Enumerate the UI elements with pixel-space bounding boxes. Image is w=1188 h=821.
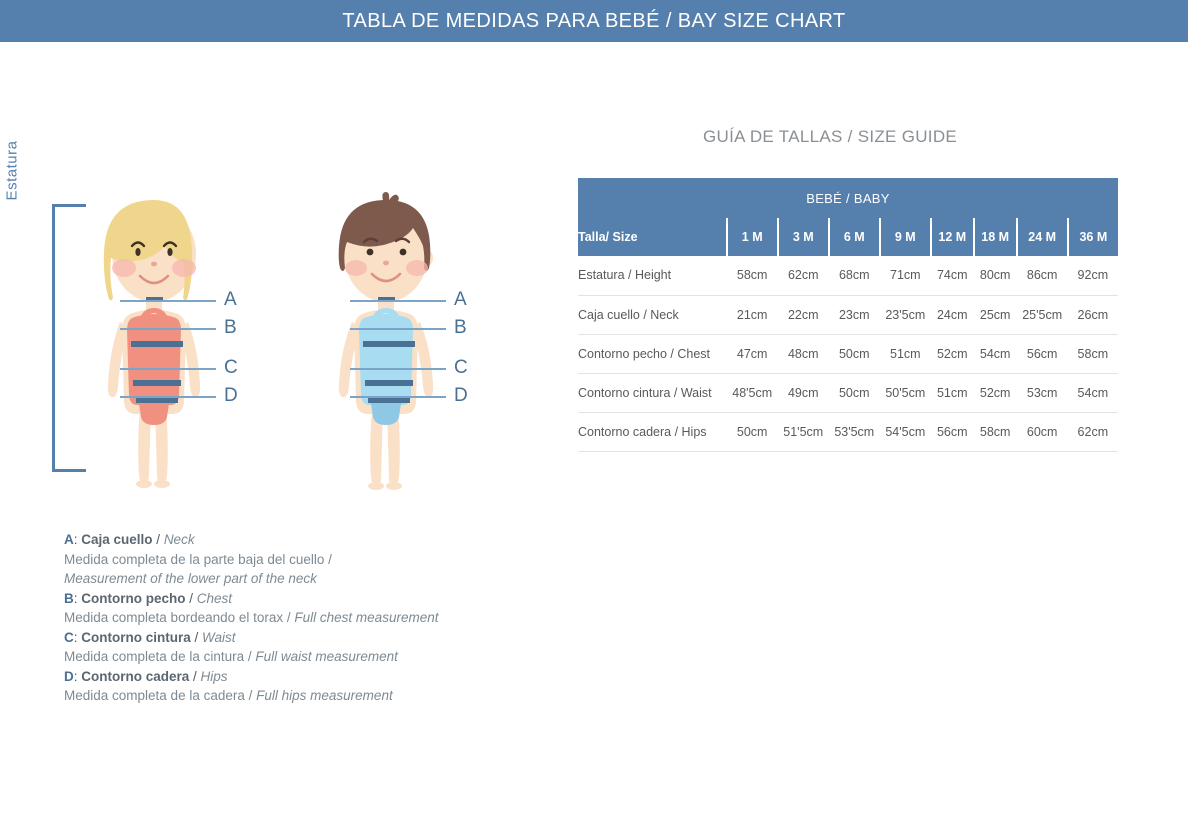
- cell-neck-3m: 22cm: [778, 295, 829, 334]
- legend-desc-en-a: Measurement of the lower part of the nec…: [64, 571, 317, 586]
- height-label: Estatura: [4, 111, 21, 231]
- boy-leader-c: [350, 368, 446, 370]
- boy-letter-b: B: [454, 318, 467, 337]
- girl-leader-a: [120, 300, 216, 302]
- cell-hips-1m: 50cm: [727, 412, 778, 451]
- cell-height-6m: 68cm: [829, 256, 880, 295]
- legend-desc-d: Medida completa de la cadera / Full hips…: [64, 686, 444, 706]
- row-label-neck: Caja cuello / Neck: [578, 295, 727, 334]
- cell-neck-18m: 25cm: [974, 295, 1017, 334]
- cell-hips-9m: 54'5cm: [880, 412, 931, 451]
- legend-letter-d: D: [64, 669, 74, 684]
- legend-desc-en-b: Full chest measurement: [294, 610, 438, 625]
- legend-sep-d: /: [189, 669, 200, 684]
- boy-letter-a: A: [454, 290, 467, 309]
- height-bracket-line: [52, 204, 55, 472]
- cell-chest-36m: 58cm: [1068, 334, 1118, 373]
- size-guide-title: GUÍA DE TALLAS / SIZE GUIDE: [703, 127, 957, 147]
- size-table-group-row: BEBÉ / BABY: [578, 178, 1118, 218]
- size-col-9m[interactable]: 9 M: [880, 218, 931, 256]
- size-table-head: BEBÉ / BABY Talla/ Size 1 M 3 M 6 M 9 M …: [578, 178, 1118, 256]
- cell-waist-18m: 52cm: [974, 373, 1017, 412]
- cell-neck-9m: 23'5cm: [880, 295, 931, 334]
- legend-desc-es-b: Medida completa bordeando el torax /: [64, 610, 291, 625]
- legend-letter-a: A: [64, 532, 74, 547]
- legend-head-d: D: Contorno cadera / Hips: [64, 667, 444, 687]
- legend-term-en-b: Chest: [197, 591, 232, 606]
- girl-leader-b: [120, 328, 216, 330]
- legend-head-b: B: Contorno pecho / Chest: [64, 589, 444, 609]
- cell-height-1m: 58cm: [727, 256, 778, 295]
- girl-callouts: A B C D: [120, 192, 260, 492]
- cell-height-3m: 62cm: [778, 256, 829, 295]
- cell-waist-12m: 51cm: [931, 373, 974, 412]
- legend-item-c: C: Contorno cintura / Waist Medida compl…: [64, 628, 444, 667]
- size-table-body: Estatura / Height 58cm 62cm 68cm 71cm 74…: [578, 256, 1118, 451]
- cell-waist-1m: 48'5cm: [727, 373, 778, 412]
- legend-sep-b: /: [186, 591, 197, 606]
- cell-hips-24m: 60cm: [1017, 412, 1068, 451]
- size-col-36m[interactable]: 36 M: [1068, 218, 1118, 256]
- cell-chest-24m: 56cm: [1017, 334, 1068, 373]
- size-col-18m[interactable]: 18 M: [974, 218, 1017, 256]
- cell-chest-9m: 51cm: [880, 334, 931, 373]
- legend-term-en-d: Hips: [201, 669, 228, 684]
- cell-waist-24m: 53cm: [1017, 373, 1068, 412]
- row-label-hips: Contorno cadera / Hips: [578, 412, 727, 451]
- cell-hips-36m: 62cm: [1068, 412, 1118, 451]
- row-label-waist: Contorno cintura / Waist: [578, 373, 727, 412]
- legend-letter-b: B: [64, 591, 74, 606]
- legend-term-c: Contorno cintura: [81, 630, 191, 645]
- legend-term-en-a: Neck: [164, 532, 195, 547]
- page-title: TABLA DE MEDIDAS PARA BEBÉ / BAY SIZE CH…: [342, 10, 845, 33]
- table-row: Contorno pecho / Chest 47cm 48cm 50cm 51…: [578, 334, 1118, 373]
- legend-desc-en-d: Full hips measurement: [256, 688, 393, 703]
- cell-hips-6m: 53'5cm: [829, 412, 880, 451]
- cell-hips-12m: 56cm: [931, 412, 974, 451]
- girl-letter-a: A: [224, 290, 237, 309]
- boy-letter-d: D: [454, 386, 468, 405]
- legend-term-d: Contorno cadera: [81, 669, 189, 684]
- legend-item-b: B: Contorno pecho / Chest Medida complet…: [64, 589, 444, 628]
- size-table-group-header: BEBÉ / BABY: [578, 178, 1118, 218]
- legend-item-d: D: Contorno cadera / Hips Medida complet…: [64, 667, 444, 706]
- boy-leader-d: [350, 396, 446, 398]
- row-label-height: Estatura / Height: [578, 256, 727, 295]
- legend-term-a: Caja cuello: [81, 532, 152, 547]
- girl-leader-c: [120, 368, 216, 370]
- table-row: Contorno cintura / Waist 48'5cm 49cm 50c…: [578, 373, 1118, 412]
- boy-letter-c: C: [454, 358, 468, 377]
- cell-hips-3m: 51'5cm: [778, 412, 829, 451]
- legend-desc-es-d: Medida completa de la cadera /: [64, 688, 252, 703]
- size-col-6m[interactable]: 6 M: [829, 218, 880, 256]
- cell-chest-12m: 52cm: [931, 334, 974, 373]
- boy-leader-a: [350, 300, 446, 302]
- cell-neck-24m: 25'5cm: [1017, 295, 1068, 334]
- legend-desc-b: Medida completa bordeando el torax / Ful…: [64, 608, 444, 628]
- girl-letter-d: D: [224, 386, 238, 405]
- cell-waist-3m: 49cm: [778, 373, 829, 412]
- cell-height-36m: 92cm: [1068, 256, 1118, 295]
- legend-desc-c: Medida completa de la cintura / Full wai…: [64, 647, 444, 667]
- cell-waist-9m: 50'5cm: [880, 373, 931, 412]
- legend-sep-a: /: [153, 532, 164, 547]
- size-col-24m[interactable]: 24 M: [1017, 218, 1068, 256]
- cell-chest-18m: 54cm: [974, 334, 1017, 373]
- cell-chest-3m: 48cm: [778, 334, 829, 373]
- size-table-corner-label: Talla/ Size: [578, 218, 727, 256]
- legend-desc-a: Medida completa de la parte baja del cue…: [64, 550, 444, 589]
- legend-sep-c: /: [191, 630, 202, 645]
- size-col-12m[interactable]: 12 M: [931, 218, 974, 256]
- cell-height-18m: 80cm: [974, 256, 1017, 295]
- cell-neck-36m: 26cm: [1068, 295, 1118, 334]
- legend-item-a: A: Caja cuello / Neck Medida completa de…: [64, 530, 444, 589]
- cell-neck-1m: 21cm: [727, 295, 778, 334]
- boy-leader-b: [350, 328, 446, 330]
- legend-desc-en-c: Full waist measurement: [255, 649, 398, 664]
- legend-desc-es-c: Medida completa de la cintura /: [64, 649, 252, 664]
- row-label-chest: Contorno pecho / Chest: [578, 334, 727, 373]
- legend-letter-c: C: [64, 630, 74, 645]
- cell-hips-18m: 58cm: [974, 412, 1017, 451]
- cell-waist-6m: 50cm: [829, 373, 880, 412]
- legend-desc-es-a: Medida completa de la parte baja del cue…: [64, 552, 332, 567]
- measurement-legend: A: Caja cuello / Neck Medida completa de…: [64, 530, 444, 706]
- illustrations-panel: Estatura: [0, 42, 560, 512]
- size-guide-table: BEBÉ / BABY Talla/ Size 1 M 3 M 6 M 9 M …: [578, 178, 1118, 452]
- boy-callouts: A B C D: [350, 192, 490, 492]
- girl-letter-c: C: [224, 358, 238, 377]
- legend-term-en-c: Waist: [202, 630, 236, 645]
- cell-height-12m: 74cm: [931, 256, 974, 295]
- height-bracket: [42, 204, 64, 472]
- table-row: Contorno cadera / Hips 50cm 51'5cm 53'5c…: [578, 412, 1118, 451]
- cell-waist-36m: 54cm: [1068, 373, 1118, 412]
- table-row: Estatura / Height 58cm 62cm 68cm 71cm 74…: [578, 256, 1118, 295]
- page-header-banner: TABLA DE MEDIDAS PARA BEBÉ / BAY SIZE CH…: [0, 0, 1188, 42]
- size-col-1m[interactable]: 1 M: [727, 218, 778, 256]
- cell-neck-12m: 24cm: [931, 295, 974, 334]
- legend-head-c: C: Contorno cintura / Waist: [64, 628, 444, 648]
- table-row: Caja cuello / Neck 21cm 22cm 23cm 23'5cm…: [578, 295, 1118, 334]
- cell-chest-6m: 50cm: [829, 334, 880, 373]
- size-table-header-row: Talla/ Size 1 M 3 M 6 M 9 M 12 M 18 M 24…: [578, 218, 1118, 256]
- girl-leader-d: [120, 396, 216, 398]
- cell-chest-1m: 47cm: [727, 334, 778, 373]
- cell-height-24m: 86cm: [1017, 256, 1068, 295]
- cell-neck-6m: 23cm: [829, 295, 880, 334]
- cell-height-9m: 71cm: [880, 256, 931, 295]
- legend-term-b: Contorno pecho: [81, 591, 185, 606]
- size-col-3m[interactable]: 3 M: [778, 218, 829, 256]
- legend-head-a: A: Caja cuello / Neck: [64, 530, 444, 550]
- girl-letter-b: B: [224, 318, 237, 337]
